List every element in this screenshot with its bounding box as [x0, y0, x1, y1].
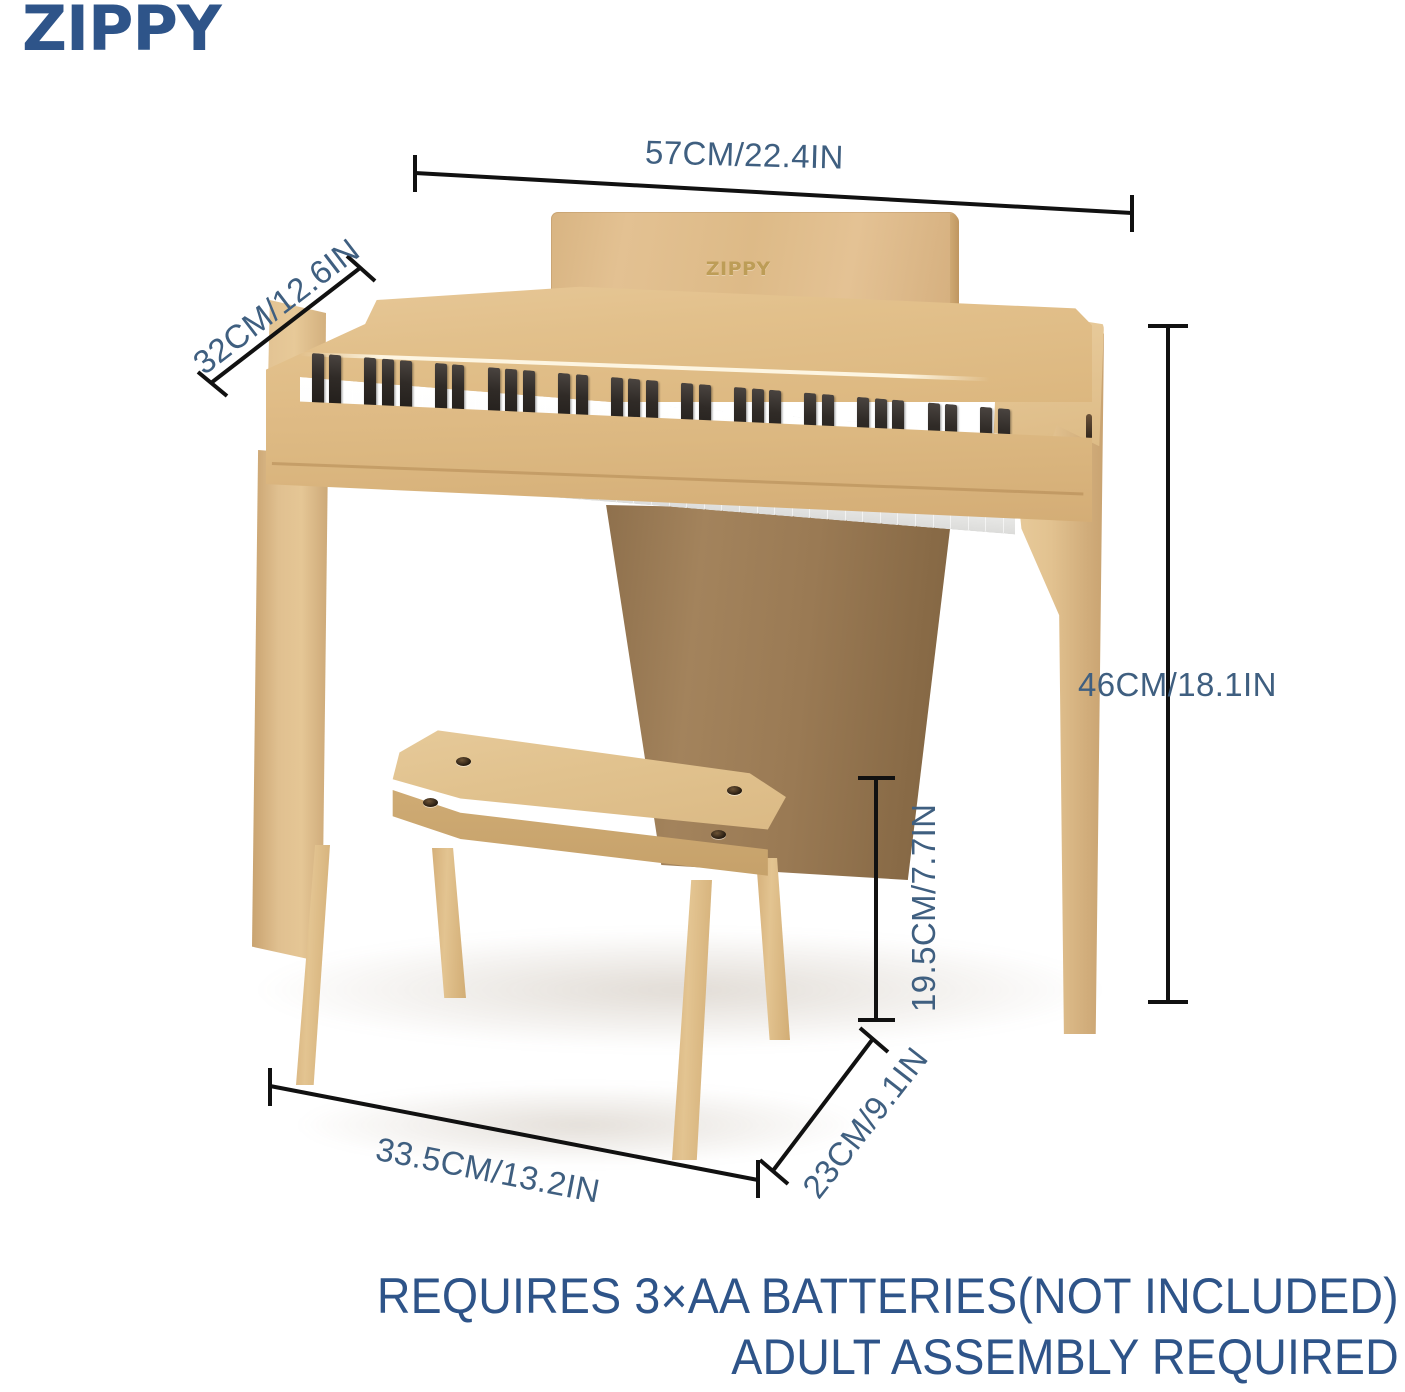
dimension-label-bench-height: 19.5CM/7.7IN: [905, 804, 943, 1012]
bench-screw-hole-1: [456, 757, 471, 766]
piano-black-key: [329, 354, 341, 411]
bench-screw-hole-2: [423, 798, 438, 807]
piano-black-key: [312, 353, 324, 410]
notice-line-assembly: ADULT ASSEMBLY REQUIRED: [377, 1327, 1399, 1388]
dimension-label-piano-width: 57CM/22.4IN: [645, 133, 845, 176]
product-dimension-diagram: ZIPPY ZIPPY: [0, 0, 1405, 1392]
product-brand-emboss: ZIPPY: [706, 258, 771, 280]
notice-line-batteries: REQUIRES 3×AA BATTERIES(NOT INCLUDED): [377, 1266, 1399, 1327]
bench-screw-hole-4: [711, 830, 726, 839]
dimension-label-piano-height: 46CM/18.1IN: [1078, 666, 1277, 704]
piano-shadow: [250, 930, 1110, 1050]
product-notice: REQUIRES 3×AA BATTERIES(NOT INCLUDED) AD…: [377, 1266, 1399, 1388]
bench-screw-hole-3: [727, 786, 742, 795]
screw-slot-upper: [1086, 414, 1092, 440]
